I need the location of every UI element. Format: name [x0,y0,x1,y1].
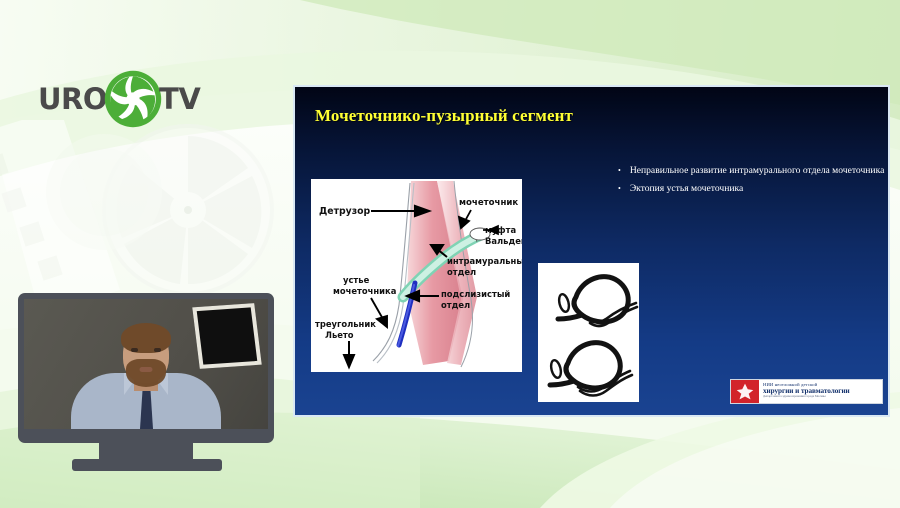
green-swirl-circle-icon [103,69,163,129]
institute-logo: НИИ неотложной детской хирургии и травма… [730,379,883,404]
label-trigone-lieto-line2: Льето [325,330,354,340]
label-ureter: мочеточник [459,198,518,208]
bladder-ureter-line-drawings [538,263,639,402]
institute-logo-text: НИИ неотложной детской хирургии и травма… [759,380,882,403]
label-detrusor: Детрузор [319,206,370,217]
label-trigone-lieto-line1: треугольник [315,319,376,329]
webcam-video-feed[interactable] [18,293,274,443]
list-item: • Эктопия устья мочеточника [618,183,886,196]
red-cross-emblem-icon [731,380,759,403]
list-item: • Неправильное развитие интрамурального … [618,165,886,178]
label-intramural-segment-line1: интрамуральный [447,256,522,266]
label-submucosal-segment-line2: отдел [441,300,470,310]
computer-monitor-icon [18,293,274,443]
label-submucosal-segment-line1: подслизистый [441,289,510,299]
bullet-text: Неправильное развитие интрамурального от… [630,165,885,178]
monitor-stand-base [72,459,222,471]
slide-title: Мочеточнико-пузырный сегмент [315,106,573,126]
film-reel-watermark-icon [0,120,300,300]
ureterovesical-junction-anatomy-diagram: Детрузор мочеточник муфта Вальдейра [311,179,522,372]
video-screen[interactable] [24,299,268,429]
institute-department-line: Департамента здравоохранения города Моск… [763,395,879,399]
label-ureteral-orifice-line1: устье [343,275,370,285]
emblem-glyph [731,380,759,403]
presentation-slide: Мочеточнико-пузырный сегмент • Неправиль… [293,85,890,417]
wall-picture-frame [192,303,261,369]
presenter-beard [126,359,166,387]
anatomy-illustration: Детрузор мочеточник муфта Вальдейра [311,179,522,372]
bullet-marker-icon: • [618,183,621,196]
presentation-screen: URO TV [0,0,900,508]
slide-bullet-list: • Неправильное развитие интрамурального … [618,165,886,201]
label-waldeyer-sheath-line2: Вальдейра [485,236,522,246]
logo-text-uro: URO [38,85,107,114]
bullet-text: Эктопия устья мочеточника [630,183,743,196]
presenter-eye-right [154,348,161,352]
presenter-mouth [140,367,153,372]
label-ureteral-orifice-line2: мочеточника [333,286,396,296]
label-intramural-segment-line2: отдел [447,267,476,277]
urotv-logo: URO TV [38,68,203,130]
presenter-eye-left [131,348,138,352]
bladder-sketch-illustration [538,263,639,402]
bullet-marker-icon: • [618,165,621,178]
presenter-hair [121,323,171,353]
logo-text-tv: TV [159,85,200,114]
